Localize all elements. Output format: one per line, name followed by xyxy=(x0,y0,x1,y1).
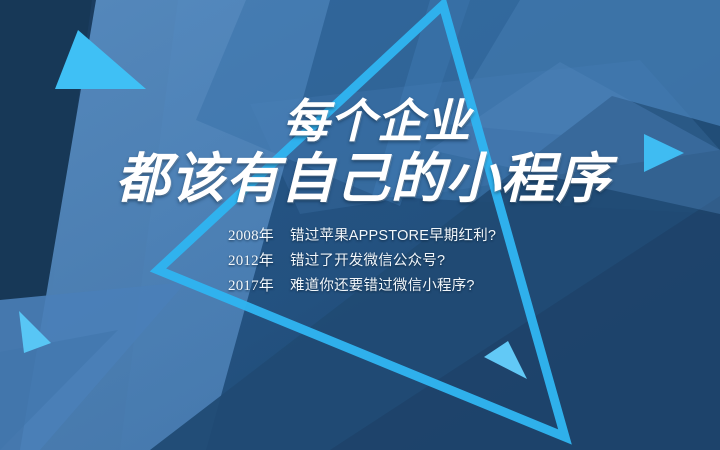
title-line-2: 都该有自己的小程序 xyxy=(0,148,720,210)
page-title: 每个企业 都该有自己的小程序 xyxy=(0,96,720,210)
subtitle-text: 错过了开发微信公众号? xyxy=(290,249,445,270)
title-line-1: 每个企业 xyxy=(0,96,720,148)
list-item: 2017年 难道你还要错过微信小程序? xyxy=(228,274,558,299)
subtitle-text: 错过苹果APPSTORE早期红利? xyxy=(290,224,496,245)
subtitle-text: 难道你还要错过微信小程序? xyxy=(290,274,475,295)
list-item: 2008年 错过苹果APPSTORE早期红利? xyxy=(228,224,558,249)
subtitle-year: 2017年 xyxy=(228,274,290,295)
subtitle-year: 2008年 xyxy=(228,224,290,245)
subtitle-year: 2012年 xyxy=(228,249,290,270)
subtitle-list: 2008年 错过苹果APPSTORE早期红利? 2012年 错过了开发微信公众号… xyxy=(228,224,558,299)
content-layer: 每个企业 都该有自己的小程序 2008年 错过苹果APPSTORE早期红利? 2… xyxy=(0,0,720,450)
slide-poster: 每个企业 都该有自己的小程序 2008年 错过苹果APPSTORE早期红利? 2… xyxy=(0,0,720,450)
list-item: 2012年 错过了开发微信公众号? xyxy=(228,249,558,274)
